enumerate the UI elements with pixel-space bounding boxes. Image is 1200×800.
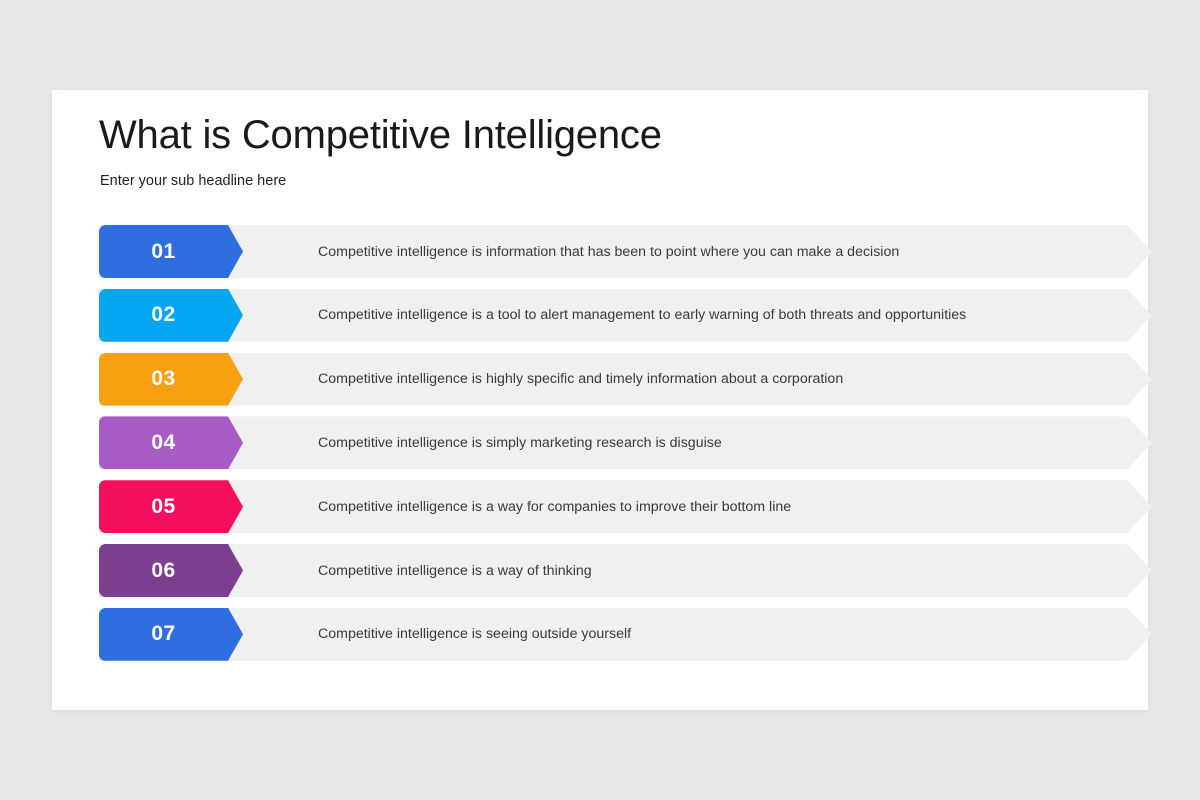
process-row-chip[interactable] [99,289,243,342]
process-row[interactable]: 05Competitive intelligence is a way for … [99,480,1148,533]
process-row-chip[interactable] [99,480,243,533]
process-row-chip[interactable] [99,416,243,469]
slide-card: What is Competitive Intelligence Enter y… [52,90,1148,710]
process-row-chip[interactable] [99,608,243,661]
process-row-text: Competitive intelligence is a way of thi… [318,544,592,597]
process-row-text: Competitive intelligence is simply marke… [318,416,722,469]
process-row-text: Competitive intelligence is a tool to al… [318,289,966,342]
process-row-text: Competitive intelligence is seeing outsi… [318,608,631,661]
process-list: 01Competitive intelligence is informatio… [52,90,1148,710]
process-row-text: Competitive intelligence is highly speci… [318,353,843,406]
process-row[interactable]: 04Competitive intelligence is simply mar… [99,416,1148,469]
process-row[interactable]: 02Competitive intelligence is a tool to … [99,289,1148,342]
process-row-chip[interactable] [99,353,243,406]
process-row[interactable]: 01Competitive intelligence is informatio… [99,225,1148,278]
process-row-text: Competitive intelligence is a way for co… [318,480,791,533]
process-row[interactable]: 06Competitive intelligence is a way of t… [99,544,1148,597]
process-row-bar [99,544,1152,597]
process-row[interactable]: 03Competitive intelligence is highly spe… [99,353,1148,406]
process-row-chip[interactable] [99,544,243,597]
process-row-text: Competitive intelligence is information … [318,225,899,278]
process-row[interactable]: 07Competitive intelligence is seeing out… [99,608,1148,661]
process-row-chip[interactable] [99,225,243,278]
